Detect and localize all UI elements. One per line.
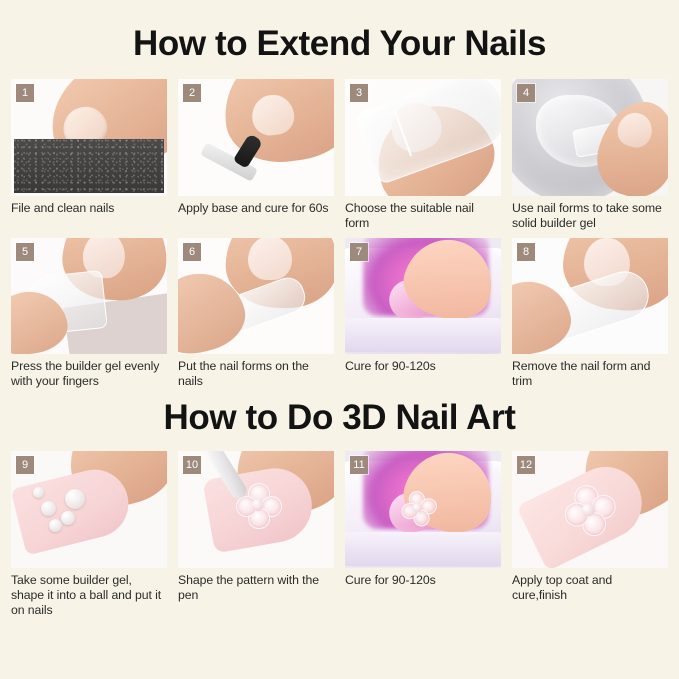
step-card-5[interactable]: 5 Press the builder gel evenly with your… (11, 238, 167, 388)
gel-jar-icon (512, 79, 668, 196)
step-photo-10: 10 (178, 451, 334, 568)
step-caption-1: File and clean nails (11, 201, 167, 216)
step-card-4[interactable]: 4 Use nail forms to take some solid buil… (512, 79, 668, 230)
step-photo-6: 6 (178, 238, 334, 354)
step-photo-1: 1 (11, 79, 167, 196)
step-badge-10: 10 (183, 456, 201, 474)
step-photo-4: 4 (512, 79, 668, 196)
step-caption-2: Apply base and cure for 60s (178, 201, 334, 216)
step-caption-5: Press the builder gel evenly with your f… (11, 359, 167, 388)
step-badge-2: 2 (183, 84, 201, 102)
nail-file-icon (11, 79, 167, 196)
step-caption-11: Cure for 90-120s (345, 573, 501, 588)
step-caption-6: Put the nail forms on the nails (178, 359, 334, 388)
shaping-pen-icon (178, 451, 334, 568)
step-card-7[interactable]: 7 Cure for 90-120s (345, 238, 501, 388)
step-card-12[interactable]: 12 Apply top coat and cure,finish (512, 451, 668, 617)
step-badge-9: 9 (16, 456, 34, 474)
step-badge-4: 4 (517, 84, 535, 102)
step-photo-5: 5 (11, 238, 167, 354)
uv-lamp-icon (345, 238, 501, 354)
step-card-3[interactable]: 3 Choose the suitable nail form (345, 79, 501, 230)
step-badge-3: 3 (350, 84, 368, 102)
uv-lamp-icon (345, 451, 501, 568)
step-caption-8: Remove the nail form and trim (512, 359, 668, 388)
step-photo-7: 7 (345, 238, 501, 354)
step-row-2: 5 Press the builder gel evenly with your… (0, 238, 679, 388)
step-photo-11: 11 (345, 451, 501, 568)
step-photo-2: 2 (178, 79, 334, 196)
step-card-9[interactable]: 9 Take some builder gel, shape it into a… (11, 451, 167, 617)
step-card-10[interactable]: 10 Shape the pattern with the pen (178, 451, 334, 617)
step-photo-3: 3 (345, 79, 501, 196)
finished-flower-icon (512, 451, 668, 568)
step-card-6[interactable]: 6 Put the nail forms on the nails (178, 238, 334, 388)
step-caption-12: Apply top coat and cure,finish (512, 573, 668, 602)
press-gel-icon (11, 238, 167, 354)
step-card-11[interactable]: 11 Cure for 90-120s (345, 451, 501, 617)
nail-tutorial-infographic: How to Extend Your Nails 1 File and clea… (0, 0, 679, 679)
step-badge-5: 5 (16, 243, 34, 261)
step-card-1[interactable]: 1 File and clean nails (11, 79, 167, 230)
nail-form-icon (345, 79, 501, 196)
step-caption-10: Shape the pattern with the pen (178, 573, 334, 602)
step-card-2[interactable]: 2 Apply base and cure for 60s (178, 79, 334, 230)
base-brush-icon (178, 79, 334, 196)
step-badge-7: 7 (350, 243, 368, 261)
step-badge-11: 11 (350, 456, 368, 474)
section-title-3d-nail-art: How to Do 3D Nail Art (0, 388, 679, 435)
step-badge-1: 1 (16, 84, 34, 102)
step-badge-8: 8 (517, 243, 535, 261)
step-photo-9: 9 (11, 451, 167, 568)
step-caption-3: Choose the suitable nail form (345, 201, 501, 230)
remove-form-icon (512, 238, 668, 354)
place-form-icon (178, 238, 334, 354)
step-caption-9: Take some builder gel, shape it into a b… (11, 573, 167, 617)
step-row-3: 9 Take some builder gel, shape it into a… (0, 451, 679, 617)
section-title-extend-nails: How to Extend Your Nails (0, 0, 679, 61)
step-card-8[interactable]: 8 Remove the nail form and trim (512, 238, 668, 388)
step-badge-12: 12 (517, 456, 535, 474)
step-caption-4: Use nail forms to take some solid builde… (512, 201, 668, 230)
step-caption-7: Cure for 90-120s (345, 359, 501, 374)
step-badge-6: 6 (183, 243, 201, 261)
step-row-1: 1 File and clean nails 2 Apply base and … (0, 79, 679, 230)
gel-balls-icon (11, 451, 167, 568)
step-photo-12: 12 (512, 451, 668, 568)
step-photo-8: 8 (512, 238, 668, 354)
